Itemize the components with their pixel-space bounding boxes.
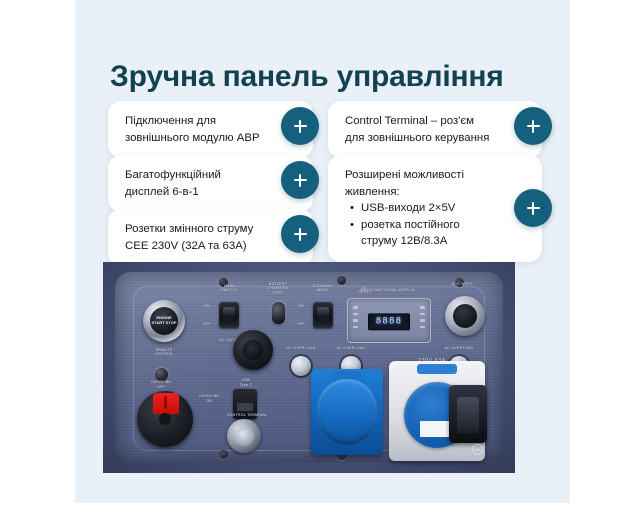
led-indicator (420, 313, 425, 316)
socket-230v-16a[interactable] (449, 385, 487, 443)
main-switch-rocker[interactable] (219, 302, 239, 328)
panel-face: ENGINE START STOP REMOTE CONTROL MAIN SW… (115, 272, 503, 463)
gasoline-off-label: GASOLINE OFF (139, 380, 183, 389)
control-terminal-connector[interactable] (227, 419, 261, 453)
plus-icon (527, 120, 540, 133)
feature-card-power-options-bullets: USB-виходи 2×5V розетка постійного струм… (345, 200, 498, 250)
led-indicator (420, 306, 425, 309)
display-leds-right (420, 306, 425, 328)
battery-charging-port[interactable] (272, 302, 285, 324)
expand-button-power-options[interactable] (514, 189, 552, 227)
atg-input-core (453, 304, 477, 328)
economy-off-label: OFF (293, 322, 309, 326)
economy-mode-label: ECONOMY MODE (301, 284, 345, 293)
feature-card-sockets-text: Розетки змінного струму CEE 230V (32A та… (125, 221, 269, 254)
plus-icon (527, 202, 540, 215)
socket-63a-handle (417, 364, 457, 374)
multifunctional-display: 8888 (347, 298, 431, 343)
fuel-valve-lever[interactable] (153, 393, 179, 414)
gasoline-on-label: GASOLINE ON (189, 394, 229, 403)
list-item: розетка постійного струму 12В/8.3А (361, 217, 498, 250)
engine-start-stop-label: ENGINE START STOP (150, 307, 178, 335)
fuel-valve-knob[interactable] (137, 391, 193, 447)
remote-control-label: REMOTE CONTROL (139, 348, 189, 357)
lcd-readout: 8888 (368, 313, 410, 330)
feature-card-control-terminal[interactable]: Control Terminal – роз'єм для зовнішньог… (328, 101, 542, 158)
engine-start-stop-button[interactable]: ENGINE START STOP (143, 300, 185, 342)
led-indicator (420, 319, 425, 322)
economy-mode-rocker[interactable] (313, 302, 333, 328)
battery-charging-label: BATTERY CHARGING PORT (255, 282, 301, 295)
feature-card-control-terminal-text: Control Terminal – роз'єм для зовнішньог… (345, 113, 498, 146)
led-indicator (353, 326, 358, 329)
ground-symbol-icon (472, 444, 483, 455)
dc-overload-label: DC OVERLOAD (273, 346, 329, 350)
plus-icon (294, 228, 307, 241)
photo-body: ENGINE START STOP REMOTE CONTROL MAIN SW… (103, 262, 515, 473)
page-title: Зручна панель управління (110, 60, 570, 95)
screw (219, 450, 228, 459)
usb-port-label: USB Type C (227, 378, 265, 387)
expand-button-sockets[interactable] (281, 215, 319, 253)
socket-230v-32a[interactable] (311, 369, 383, 455)
main-switch-off-label: OFF (199, 322, 215, 326)
feature-card-power-options[interactable]: Розширені можливості живлення: USB-виход… (328, 155, 542, 262)
control-terminal-label: CONTROL TERMINAL (219, 413, 275, 417)
expand-button-avr[interactable] (281, 107, 319, 145)
feature-card-display-text: Багатофункційний дисплей 6-в-1 (125, 167, 269, 200)
multifunctional-display-label: MULTIFUNCTIONAL DISPLAY (347, 288, 429, 292)
control-panel-photo: ENGINE START STOP REMOTE CONTROL MAIN SW… (103, 262, 515, 473)
list-item: USB-виходи 2×5V (361, 200, 498, 217)
dc-output-socket[interactable] (233, 330, 273, 370)
feature-card-avr-text: Підключення для зовнішнього модулю АВР (125, 113, 269, 146)
ac-overload-2-label: AC OVERLOAD (431, 346, 487, 350)
socket-32a-lid (317, 379, 377, 445)
main-switch-on-label: ON (199, 304, 215, 308)
led-indicator (420, 326, 425, 329)
feature-card-power-options-lead: Розширені можливості живлення: (345, 167, 498, 200)
ac-overload-label: AC OVERLOAD (323, 346, 379, 350)
main-switch-label: MAIN SWITCH (207, 284, 251, 293)
atg-input-socket[interactable] (445, 296, 485, 336)
led-indicator (353, 319, 358, 322)
plus-icon (294, 120, 307, 133)
expand-button-display[interactable] (281, 161, 319, 199)
atg-input-label: ATG INPUT (441, 282, 483, 286)
led-indicator (353, 313, 358, 316)
page-root: Зручна панель управління Підключення для… (0, 0, 618, 519)
dc-overload-breaker[interactable] (291, 356, 311, 376)
economy-on-label: ON (293, 304, 309, 308)
control-terminal-core (235, 427, 254, 446)
led-indicator (353, 306, 358, 309)
display-leds-left (353, 306, 358, 328)
expand-button-control-terminal[interactable] (514, 107, 552, 145)
plus-icon (294, 174, 307, 187)
